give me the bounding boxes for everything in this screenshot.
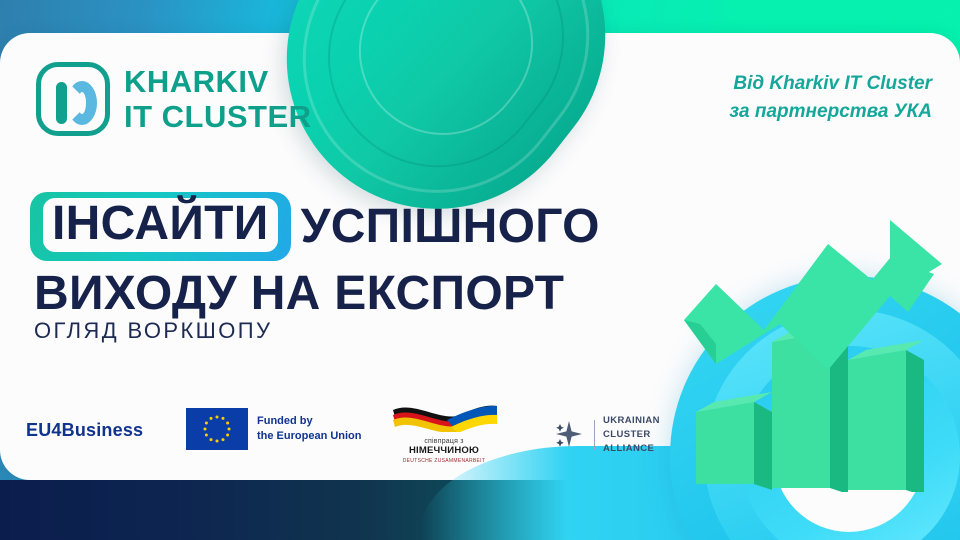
page-subtitle: ОГЛЯД ВОРКШОПУ: [34, 318, 272, 344]
partner-note-line1: Від Kharkiv IT Cluster: [729, 70, 932, 98]
german-cooperation-line2: НІМЕЧЧИНОЮ: [385, 445, 503, 456]
german-cooperation-line1: співпраця з: [385, 438, 503, 445]
headline-line-2: ВИХОДУ НА ЕКСПОРТ: [34, 270, 600, 318]
eu-flag-icon: [186, 408, 248, 450]
footer-logos: EU4Business: [0, 402, 960, 462]
uca-line3: ALLIANCE: [603, 442, 660, 456]
headline-line2-text: ВИХОДУ НА ЕКСПОРТ: [34, 270, 564, 318]
uca-line1: UKRAINIAN: [603, 414, 660, 428]
partner-note-line2: за партнерства УКА: [729, 98, 932, 126]
eu-flag-stars-svg: [186, 408, 248, 450]
poster-canvas: KHARKIV IT CLUSTER Від Kharkiv IT Cluste…: [0, 0, 960, 540]
brand-name-line2: IT CLUSTER: [124, 101, 312, 132]
european-union-logo[interactable]: Funded by the European Union: [186, 408, 362, 450]
brand-name-line1: KHARKIV: [124, 66, 312, 97]
uca-divider: [594, 420, 595, 450]
logo-bar: [56, 82, 67, 124]
headline-line1-rest: УСПІШНОГО: [301, 203, 600, 251]
eu-funding-line1: Funded by: [257, 414, 362, 429]
eu4business-logo[interactable]: EU4Business: [26, 420, 143, 441]
german-cooperation-line3: DEUTSCHE ZUSAMMENARBEIT: [385, 458, 503, 464]
kharkiv-it-cluster-logo-icon: [36, 62, 110, 136]
german-ukrainian-flag-ribbon-icon: [385, 402, 503, 432]
brand-logo[interactable]: KHARKIV IT CLUSTER: [36, 62, 312, 136]
brand-name: KHARKIV IT CLUSTER: [124, 66, 312, 132]
headline: ІНСАЙТИ УСПІШНОГО ВИХОДУ НА ЕКСПОРТ: [30, 192, 600, 318]
german-cooperation-logo[interactable]: співпраця з НІМЕЧЧИНОЮ DEUTSCHE ZUSAMMEN…: [385, 402, 503, 464]
uca-star-icon: [552, 418, 586, 452]
ukrainian-cluster-alliance-logo[interactable]: UKRAINIAN CLUSTER ALLIANCE: [552, 414, 660, 455]
logo-c-shape: [67, 81, 97, 125]
uca-line2: CLUSTER: [603, 428, 660, 442]
partner-note: Від Kharkiv IT Cluster за партнерства УК…: [729, 70, 932, 125]
eu-funding-text: Funded by the European Union: [257, 414, 362, 444]
headline-line-1: ІНСАЙТИ УСПІШНОГО: [30, 192, 600, 261]
headline-highlight-chip: ІНСАЙТИ: [30, 192, 291, 261]
headline-highlight-inner: ІНСАЙТИ: [43, 198, 278, 252]
headline-highlight-word: ІНСАЙТИ: [52, 197, 269, 250]
uca-text: UKRAINIAN CLUSTER ALLIANCE: [603, 414, 660, 455]
eu-funding-line2: the European Union: [257, 429, 362, 444]
